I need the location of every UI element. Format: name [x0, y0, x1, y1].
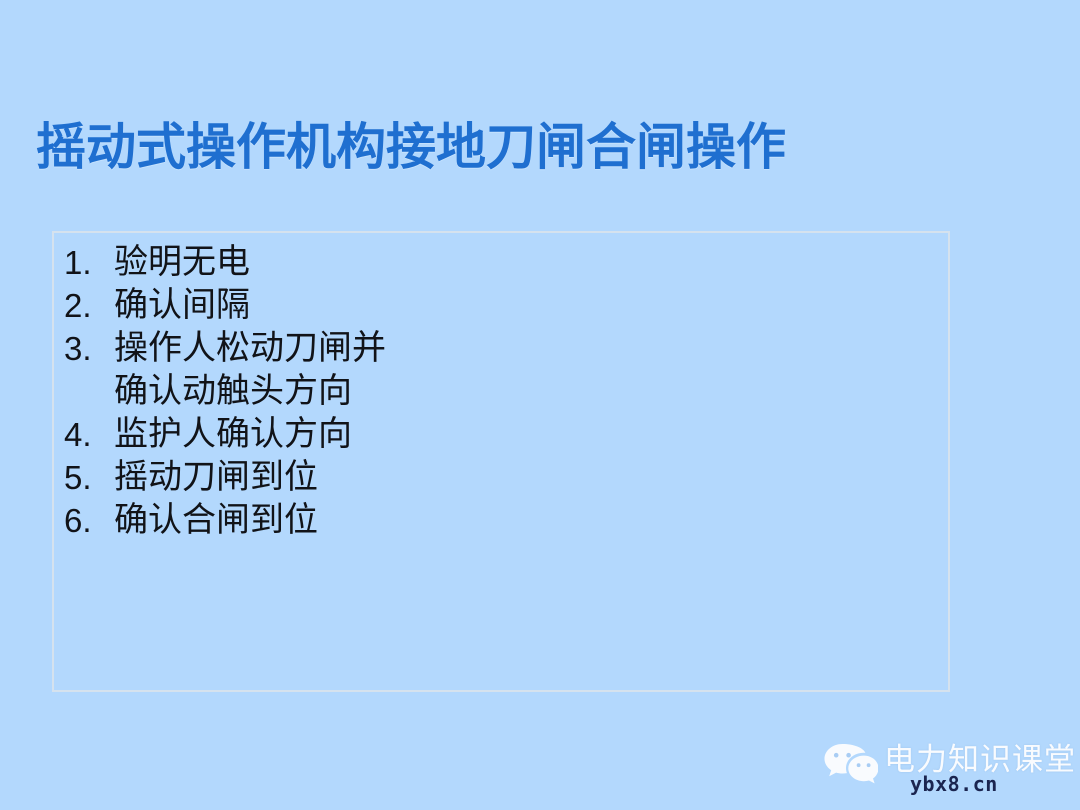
list-item-number: 5.: [64, 456, 114, 499]
list-item-label: 验明无电: [114, 241, 938, 284]
list-item-number: 6.: [64, 499, 114, 542]
content-box: 1. 验明无电 2. 确认间隔 3. 操作人松动刀闸并 确认动触头方向 4. 监…: [52, 231, 950, 692]
list-item-label: 确认合闸到位: [114, 499, 938, 542]
list-item-label: 操作人松动刀闸并 确认动触头方向: [114, 327, 938, 413]
step-list: 1. 验明无电 2. 确认间隔 3. 操作人松动刀闸并 确认动触头方向 4. 监…: [64, 241, 938, 542]
list-item: 4. 监护人确认方向: [64, 413, 938, 456]
list-item-label: 监护人确认方向: [114, 413, 938, 456]
watermark-url: ybx8.cn: [910, 772, 998, 796]
list-item-label: 确认间隔: [114, 284, 938, 327]
list-item: 6. 确认合闸到位: [64, 499, 938, 542]
list-item-number: 2.: [64, 284, 114, 327]
list-item: 5. 摇动刀闸到位: [64, 456, 938, 499]
watermark: 电力知识课堂 ybx8.cn: [812, 740, 1072, 800]
page-title: 摇动式操作机构接地刀闸合闸操作: [36, 116, 1036, 178]
list-item: 2. 确认间隔: [64, 284, 938, 327]
list-item-label: 摇动刀闸到位: [114, 456, 938, 499]
list-item: 1. 验明无电: [64, 241, 938, 284]
list-item: 3. 操作人松动刀闸并 确认动触头方向: [64, 327, 938, 413]
list-item-number: 3.: [64, 327, 114, 370]
wechat-icon: [822, 742, 878, 784]
list-item-number: 1.: [64, 241, 114, 284]
list-item-number: 4.: [64, 413, 114, 456]
slide-canvas: 摇动式操作机构接地刀闸合闸操作 1. 验明无电 2. 确认间隔 3. 操作人松动…: [0, 0, 1080, 810]
